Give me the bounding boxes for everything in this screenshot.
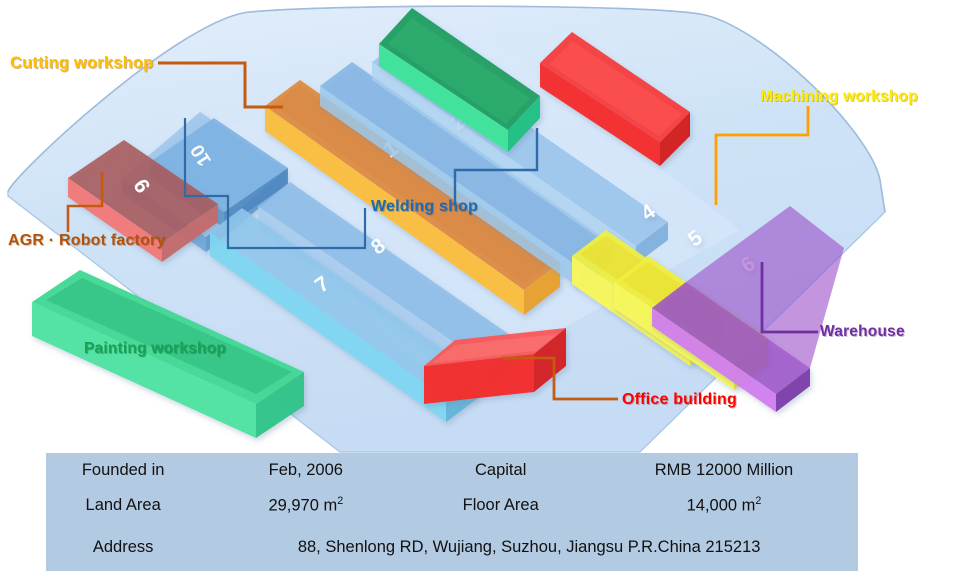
- callout-cutting-workshop[interactable]: Cutting workshop: [10, 54, 153, 73]
- info-value-capital: RMB 12000 Million: [590, 453, 858, 488]
- company-info-table: Founded in Feb, 2006 Capital RMB 12000 M…: [46, 453, 858, 571]
- info-value-founded: Feb, 2006: [200, 453, 411, 488]
- land-area-number: 29,970 m: [268, 497, 337, 515]
- info-label-floor-area: Floor Area: [411, 488, 590, 523]
- callout-agr-robot-factory[interactable]: AGR · Robot factory: [8, 232, 166, 250]
- floor-area-unit-exponent: 2: [755, 495, 761, 507]
- info-label-founded: Founded in: [46, 453, 200, 488]
- callout-painting-workshop[interactable]: Painting workshop: [84, 340, 226, 358]
- land-area-unit-exponent: 2: [337, 495, 343, 507]
- callout-warehouse[interactable]: Warehouse: [820, 323, 905, 341]
- info-row-founded: Founded in Feb, 2006 Capital RMB 12000 M…: [46, 453, 858, 488]
- info-row-area: Land Area 29,970 m2 Floor Area 14,000 m2: [46, 488, 858, 523]
- info-label-land-area: Land Area: [46, 488, 200, 523]
- factory-layout-diagram: 10 9 1 2: [0, 0, 960, 577]
- info-value-land-area: 29,970 m2: [200, 488, 411, 523]
- callout-office-building[interactable]: Office building: [622, 391, 737, 409]
- info-label-capital: Capital: [411, 453, 590, 488]
- info-value-floor-area: 14,000 m2: [590, 488, 858, 523]
- callout-machining-workshop[interactable]: Machining workshop: [760, 88, 918, 106]
- info-value-address: 88, Shenlong RD, Wujiang, Suzhou, Jiangs…: [200, 523, 858, 571]
- callout-welding-shop[interactable]: Welding shop: [371, 198, 478, 216]
- info-row-address: Address 88, Shenlong RD, Wujiang, Suzhou…: [46, 523, 858, 571]
- info-label-address: Address: [46, 523, 200, 571]
- floor-area-number: 14,000 m: [687, 497, 756, 515]
